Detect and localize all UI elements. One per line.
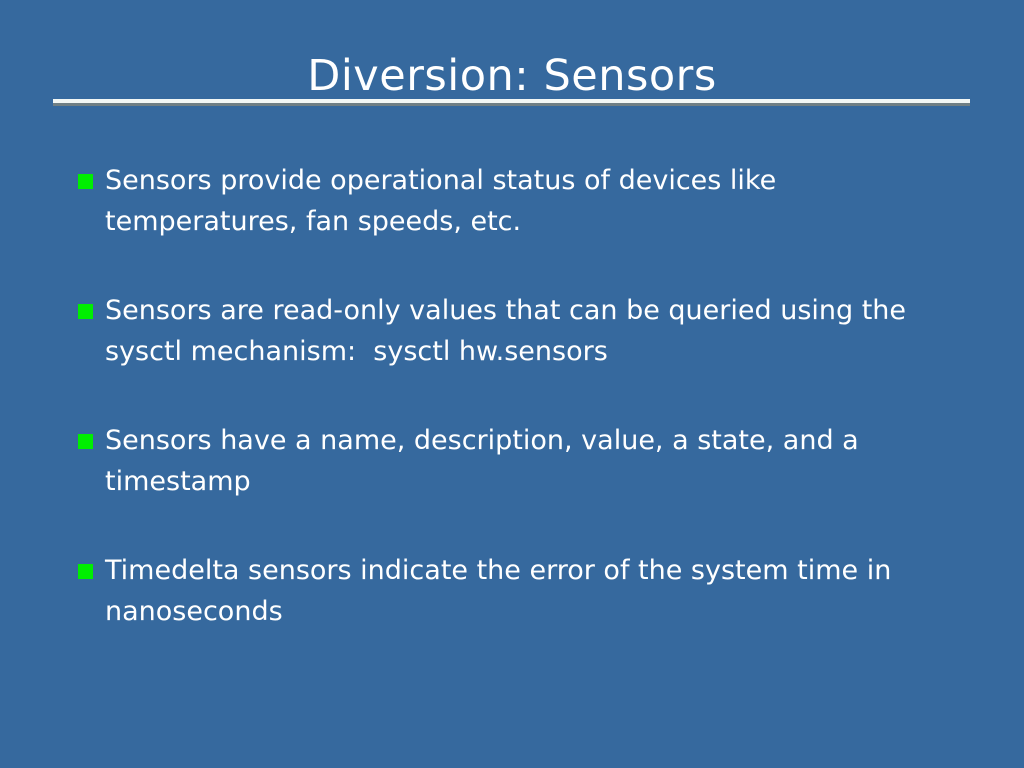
bullet-text: Timedelta sensors indicate the error of … bbox=[105, 550, 958, 632]
bullet-text: Sensors have a name, description, value,… bbox=[105, 420, 958, 502]
square-bullet-icon bbox=[78, 434, 93, 449]
slide-title-block: Diversion: Sensors bbox=[0, 50, 1024, 102]
list-item: Timedelta sensors indicate the error of … bbox=[78, 550, 958, 632]
square-bullet-icon bbox=[78, 174, 93, 189]
square-bullet-icon bbox=[78, 304, 93, 319]
square-bullet-icon bbox=[78, 564, 93, 579]
list-item: Sensors are read-only values that can be… bbox=[78, 290, 958, 372]
bullet-list: Sensors provide operational status of de… bbox=[78, 160, 958, 632]
title-divider-rule-shadow bbox=[53, 103, 970, 106]
page-title: Diversion: Sensors bbox=[307, 50, 717, 102]
presentation-slide: Diversion: Sensors Sensors provide opera… bbox=[0, 0, 1024, 768]
list-item: Sensors have a name, description, value,… bbox=[78, 420, 958, 502]
bullet-text: Sensors are read-only values that can be… bbox=[105, 290, 958, 372]
bullet-text: Sensors provide operational status of de… bbox=[105, 160, 958, 242]
list-item: Sensors provide operational status of de… bbox=[78, 160, 958, 242]
